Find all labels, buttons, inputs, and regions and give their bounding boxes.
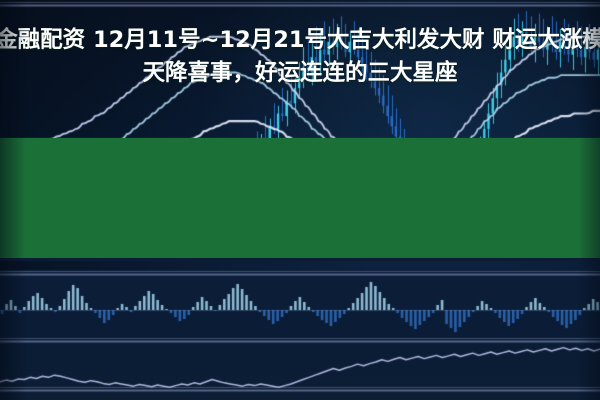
promo-banner-text-wrap: 亚投金融配资 12月11号~12月21号大吉大利发大财 财运大涨模式，天降喜事，… (0, 0, 600, 120)
promo-banner-text: 亚投金融配资 12月11号~12月21号大吉大利发大财 财运大涨模式，天降喜事，… (0, 24, 600, 90)
promo-banner-band (0, 138, 600, 258)
banner-underline-divider (0, 258, 600, 261)
promotional-chart-image: 亚投金融配资 12月11号~12月21号大吉大利发大财 财运大涨模式，天降喜事，… (0, 0, 600, 400)
